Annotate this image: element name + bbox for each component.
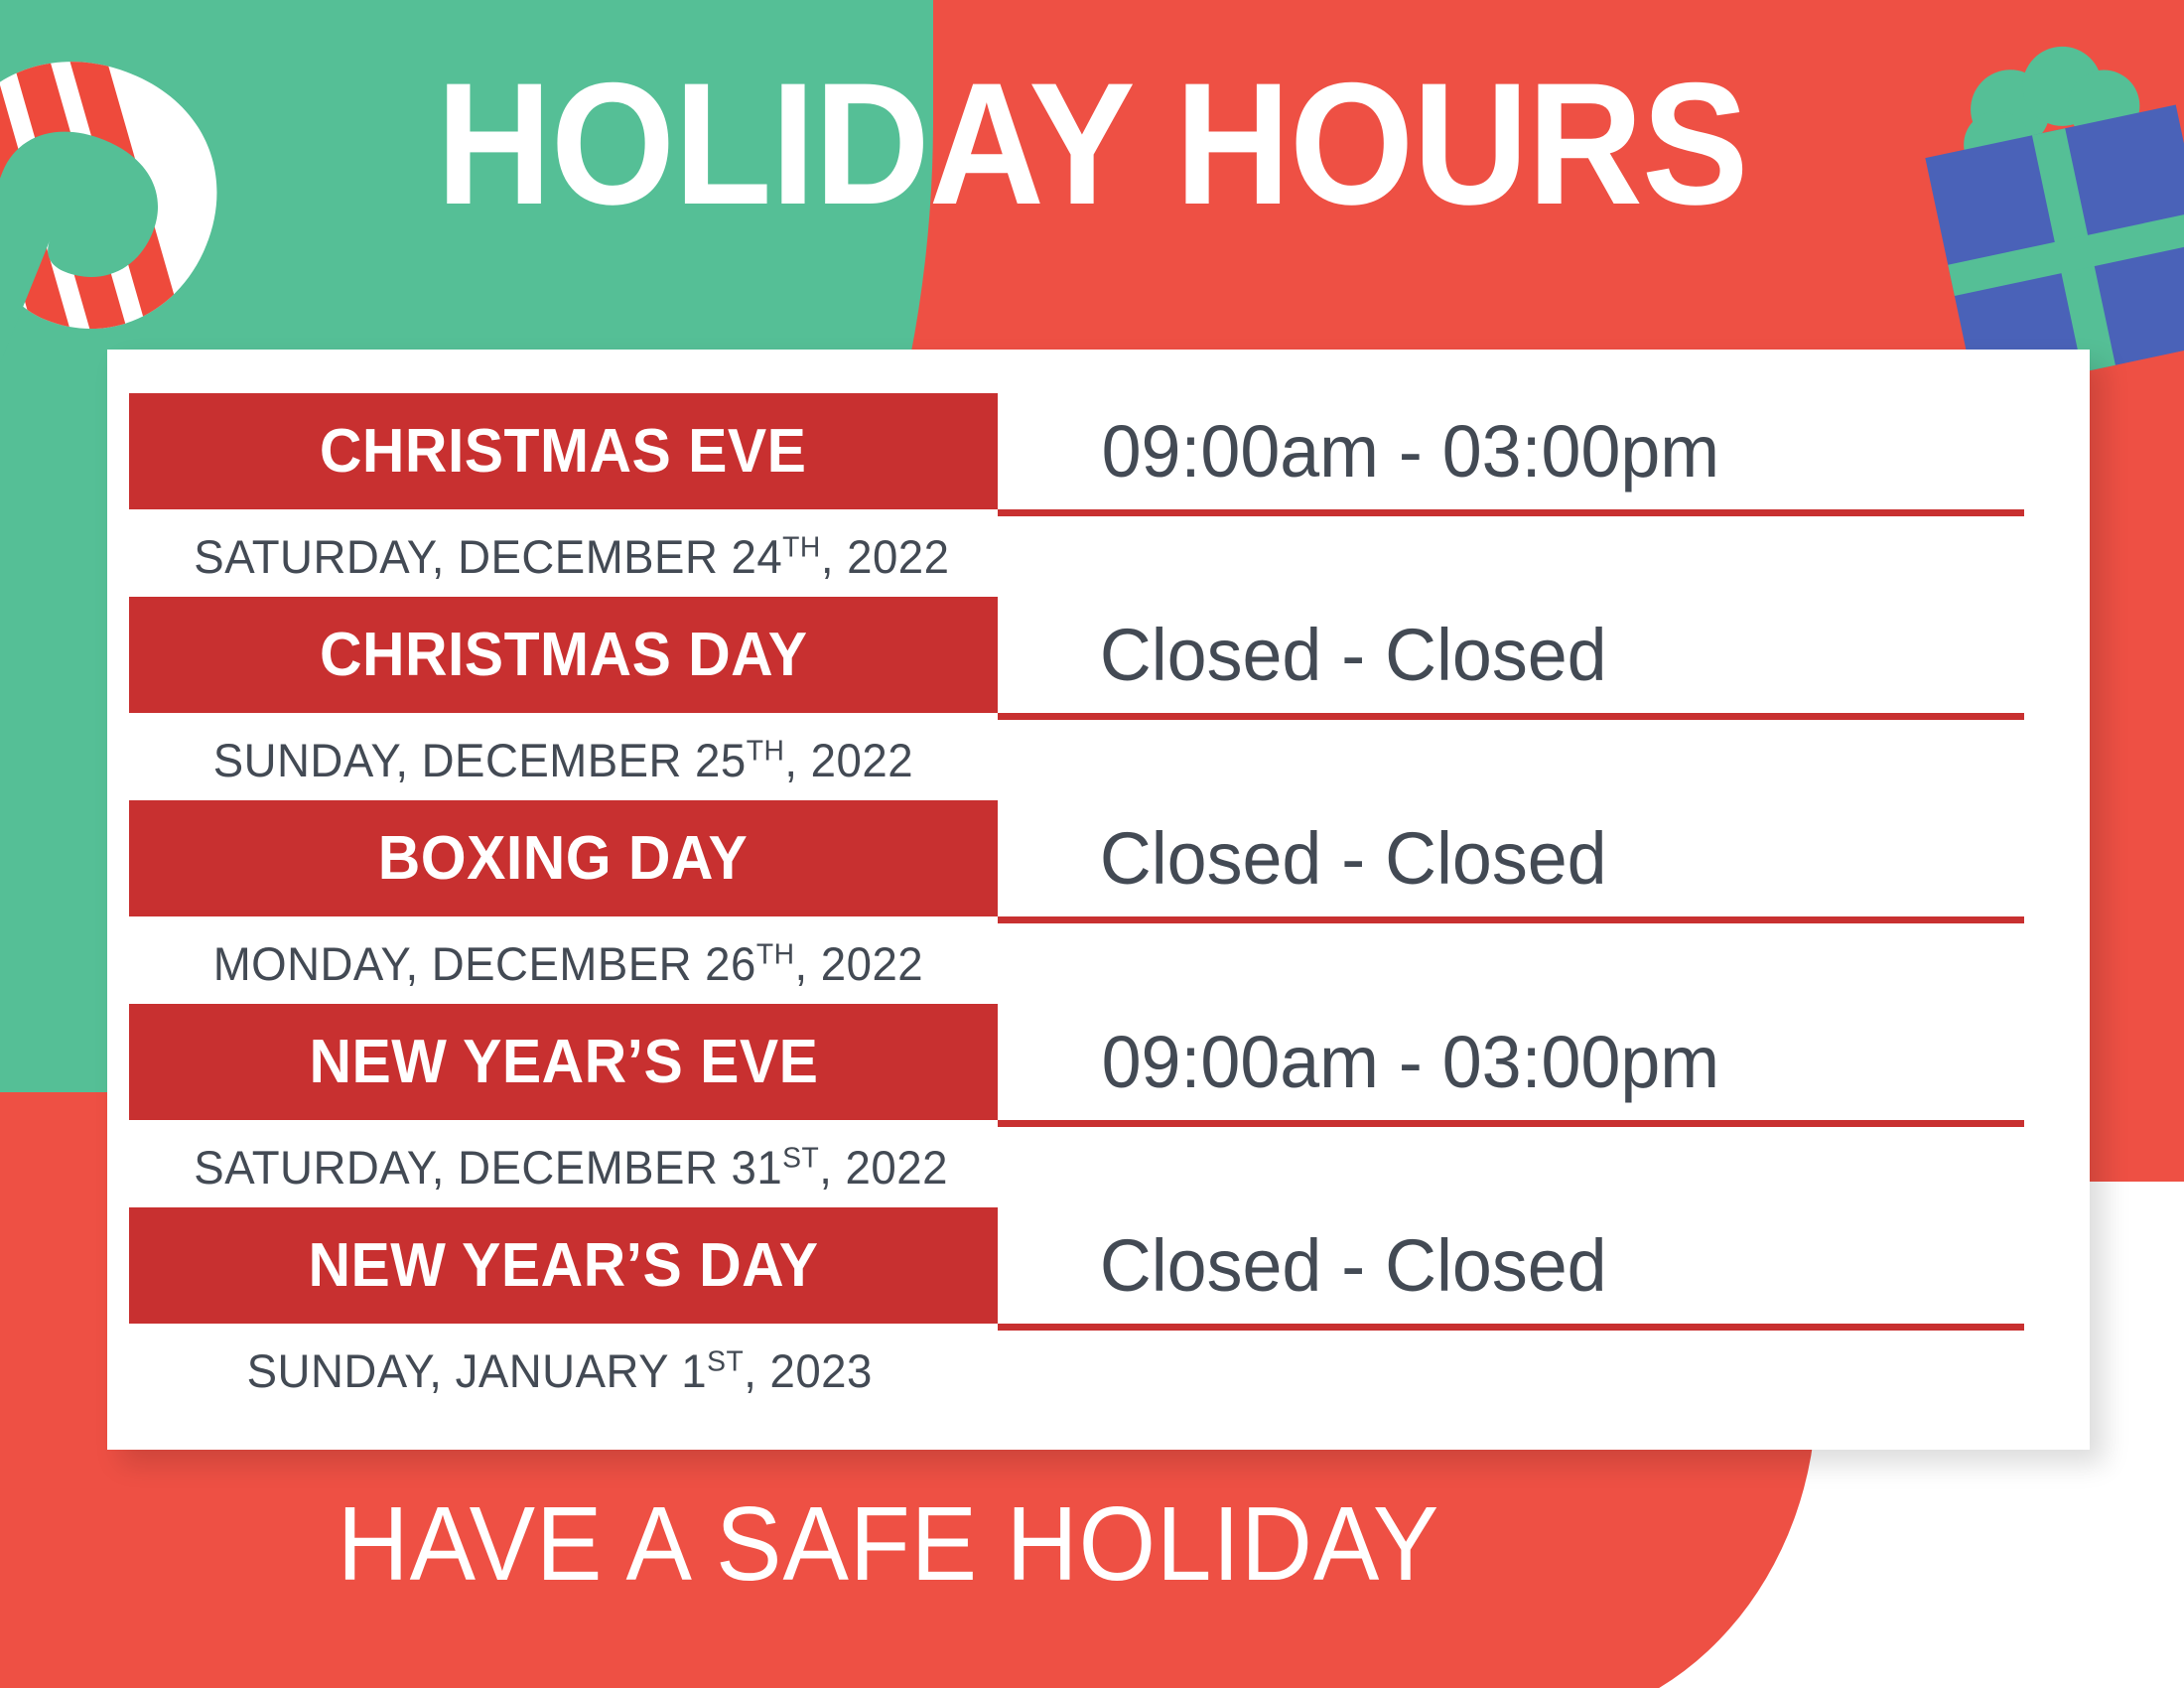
schedule-row-top: BOXING DAY Closed - Closed (107, 800, 2090, 916)
table-row: NEW YEAR’S EVE 09:00am - 03:00pm SATURDA… (107, 1004, 2090, 1207)
date-prefix: SATURDAY, DECEMBER 31 (194, 1141, 782, 1194)
holiday-name-bar: NEW YEAR’S DAY (129, 1207, 998, 1324)
holiday-date: SATURDAY, DECEMBER 24TH, 2022 (107, 509, 2030, 580)
date-suffix: , 2022 (784, 734, 913, 786)
date-prefix: SATURDAY, DECEMBER 24 (194, 530, 782, 583)
holiday-name: NEW YEAR’S DAY (309, 1235, 819, 1297)
table-row: BOXING DAY Closed - Closed MONDAY, DECEM… (107, 800, 2090, 1004)
date-ordinal: TH (756, 938, 795, 970)
date-suffix: , 2023 (744, 1344, 873, 1397)
date-suffix: , 2022 (819, 1141, 948, 1194)
holiday-hours: 09:00am - 03:00pm (1102, 415, 1719, 489)
holiday-name: NEW YEAR’S EVE (309, 1032, 818, 1093)
holiday-name: BOXING DAY (378, 828, 748, 890)
holiday-hours-cell: 09:00am - 03:00pm (998, 1004, 2090, 1120)
holiday-name-bar: NEW YEAR’S EVE (129, 1004, 998, 1120)
holiday-date: SUNDAY, DECEMBER 25TH, 2022 (107, 713, 2030, 783)
schedule-row-top: NEW YEAR’S EVE 09:00am - 03:00pm (107, 1004, 2090, 1120)
holiday-hours: Closed - Closed (1100, 822, 1607, 896)
date-ordinal: TH (747, 735, 785, 767)
holiday-hours-cell: Closed - Closed (998, 800, 2090, 916)
holiday-hours: Closed - Closed (1100, 1229, 1607, 1303)
holiday-hours-cell: Closed - Closed (998, 1207, 2090, 1324)
holiday-hours-cell: Closed - Closed (998, 597, 2090, 713)
date-ordinal: TH (782, 531, 821, 563)
schedule-card: CHRISTMAS EVE 09:00am - 03:00pm SATURDAY… (107, 350, 2090, 1450)
schedule-rows: CHRISTMAS EVE 09:00am - 03:00pm SATURDAY… (107, 350, 2090, 1421)
schedule-row-top: NEW YEAR’S DAY Closed - Closed (107, 1207, 2090, 1324)
table-row: CHRISTMAS EVE 09:00am - 03:00pm SATURDAY… (107, 393, 2090, 597)
date-ordinal: ST (782, 1142, 819, 1174)
date-ordinal: ST (707, 1345, 744, 1377)
table-row: NEW YEAR’S DAY Closed - Closed SUNDAY, J… (107, 1207, 2090, 1421)
date-prefix: SUNDAY, JANUARY 1 (247, 1344, 707, 1397)
holiday-date: SATURDAY, DECEMBER 31ST, 2022 (107, 1120, 2030, 1191)
holiday-name: CHRISTMAS DAY (320, 625, 808, 686)
holiday-name-bar: CHRISTMAS DAY (129, 597, 998, 713)
table-row: CHRISTMAS DAY Closed - Closed SUNDAY, DE… (107, 597, 2090, 800)
page-title: HOLIDAY HOURS (87, 58, 2097, 231)
date-suffix: , 2022 (794, 937, 923, 990)
holiday-date: MONDAY, DECEMBER 26TH, 2022 (107, 916, 2030, 987)
holiday-name: CHRISTMAS EVE (320, 421, 807, 483)
holiday-hours-cell: 09:00am - 03:00pm (998, 393, 2090, 509)
date-prefix: MONDAY, DECEMBER 26 (213, 937, 756, 990)
holiday-hours-poster: HOLIDAY HOURS CHRISTMAS EVE 09:00am - 03… (0, 0, 2184, 1688)
date-prefix: SUNDAY, DECEMBER 25 (213, 734, 747, 786)
holiday-name-bar: BOXING DAY (129, 800, 998, 916)
holiday-date: SUNDAY, JANUARY 1ST, 2023 (107, 1324, 2030, 1394)
holiday-name-bar: CHRISTMAS EVE (129, 393, 998, 509)
holiday-hours: Closed - Closed (1100, 619, 1607, 692)
schedule-row-top: CHRISTMAS DAY Closed - Closed (107, 597, 2090, 713)
holiday-hours: 09:00am - 03:00pm (1102, 1026, 1719, 1099)
footer-message: HAVE A SAFE HOLIDAY (54, 1491, 1724, 1597)
schedule-row-top: CHRISTMAS EVE 09:00am - 03:00pm (107, 393, 2090, 509)
date-suffix: , 2022 (821, 530, 950, 583)
